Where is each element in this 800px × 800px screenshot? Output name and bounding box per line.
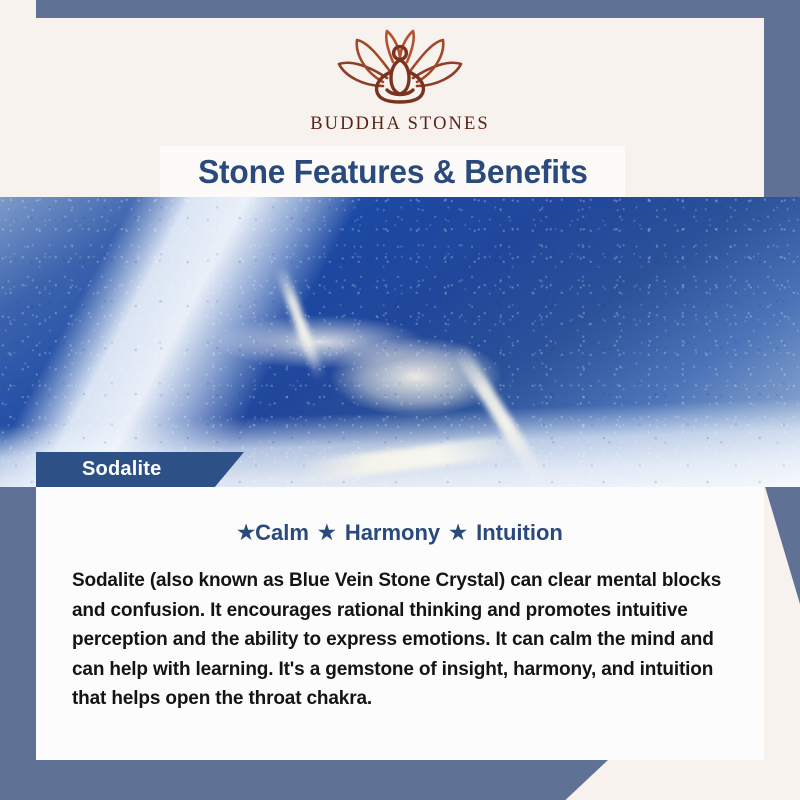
brand-name: BUDDHA STONES: [310, 114, 490, 135]
keyword-item-intuition: Intuition: [476, 520, 563, 545]
lotus-meditation-icon: [325, 26, 475, 112]
page-title: Stone Features & Benefits: [198, 153, 588, 191]
star-icon: ★: [237, 522, 255, 544]
keyword-item-harmony: Harmony: [345, 520, 440, 545]
frame-band-bottom: [0, 760, 608, 800]
keyword-item-calm: Calm: [255, 520, 309, 545]
keyword-list: ★Calm★Harmony★Intuition: [36, 520, 764, 546]
title-plate: Stone Features & Benefits: [160, 146, 625, 197]
stone-photo-grain: [0, 197, 800, 487]
star-icon: ★: [449, 522, 467, 544]
stone-name-label: Sodalite: [82, 458, 161, 481]
brand-logo: BUDDHA STONES: [36, 26, 764, 146]
star-icon: ★: [318, 522, 336, 544]
frame-band-top: [36, 0, 800, 18]
infographic-page: BUDDHA STONES Stone Features & Benefits …: [0, 0, 800, 800]
header: BUDDHA STONES Stone Features & Benefits: [36, 18, 764, 197]
stone-photo: [0, 197, 800, 487]
stone-description: Sodalite (also known as Blue Vein Stone …: [72, 566, 732, 714]
stone-name-tag: Sodalite: [36, 452, 244, 487]
content-panel: ★Calm★Harmony★Intuition Sodalite (also k…: [36, 487, 764, 760]
